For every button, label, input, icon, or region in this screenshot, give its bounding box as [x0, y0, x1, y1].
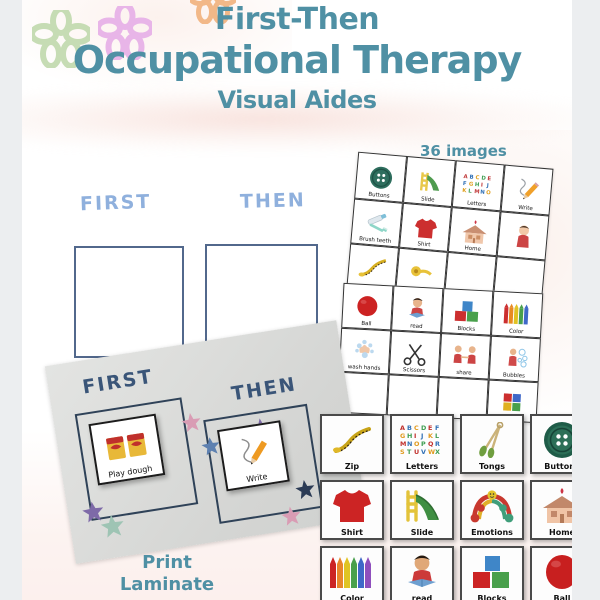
card-label: Ball [532, 594, 572, 600]
tape-icon [408, 260, 436, 282]
board-star-pink-2 [280, 504, 303, 527]
svg-text:H: H [407, 432, 412, 440]
svg-text:W: W [428, 448, 435, 456]
svg-text:B: B [407, 424, 412, 432]
svg-text:B: B [469, 174, 474, 180]
child-icon [511, 222, 535, 250]
ball-icon [354, 293, 381, 320]
svg-text:G: G [400, 432, 405, 440]
sheet-cell-brush-teeth: Brush teeth [350, 199, 403, 248]
svg-text:S: S [400, 448, 405, 456]
cell-label: Ball [342, 320, 390, 329]
zip-icon [332, 425, 372, 455]
sheet-cell-wash-hands: wash hands [339, 327, 391, 374]
tshirt-icon [331, 487, 373, 525]
svg-text:D: D [481, 175, 487, 181]
slide-icon [414, 168, 444, 194]
poster-sheet: First-Then Occupational Therapy Visual A… [22, 0, 572, 600]
card-label: Shirt [322, 528, 382, 537]
card-label: Color [322, 594, 382, 600]
svg-text:J: J [485, 182, 489, 188]
sheet-cell-buttons: Buttons [354, 152, 407, 203]
sheet-cell-slide: Slide [403, 156, 456, 207]
laminated-card-home[interactable]: Home [530, 480, 572, 540]
reading-child-icon [405, 295, 430, 322]
alphabet-icon: AB CD EF GH IJ KL MN OP QR ST UV WX [398, 423, 446, 457]
card-label: Blocks [462, 594, 522, 600]
template-first-label: FIRST [80, 191, 152, 215]
board-star-green [99, 512, 126, 539]
svg-text:P: P [421, 440, 426, 448]
svg-text:A: A [400, 424, 405, 432]
svg-text:M: M [400, 440, 406, 448]
house-icon [459, 217, 489, 245]
board-star-pink [180, 411, 203, 434]
board-card-play-dough[interactable]: Play dough [88, 414, 165, 486]
cell-label: Color [492, 327, 540, 336]
board-first-label: FIRST [81, 366, 155, 399]
svg-text:L: L [435, 432, 439, 440]
pencil-icon [230, 430, 276, 476]
bubbles-icon [501, 346, 528, 371]
laminated-card-zip[interactable]: Zip [320, 414, 384, 474]
cell-label: Bubbles [490, 372, 538, 381]
title-line-3: Visual Aides [22, 86, 572, 114]
svg-text:X: X [435, 448, 440, 456]
tongs-icon [473, 422, 511, 458]
svg-text:H: H [474, 181, 480, 187]
sheet-cell-read: read [391, 285, 443, 332]
laminated-card-color[interactable]: Color [320, 546, 384, 600]
svg-text:C: C [414, 424, 419, 432]
page-margin-left [0, 0, 22, 600]
cell-label: Scissors [390, 367, 438, 376]
laminated-card-letters[interactable]: AB CD EF GH IJ KL MN OP QR ST UV WX Lett [390, 414, 454, 474]
poster-page: First-Then Occupational Therapy Visual A… [0, 0, 600, 600]
page-margin-right [572, 0, 600, 600]
cell-label: share [440, 369, 488, 378]
sheet-b-grid: Ball read [337, 283, 544, 423]
svg-text:T: T [407, 448, 412, 456]
svg-text:R: R [435, 440, 440, 448]
emotions-icon [468, 489, 516, 523]
sheet-cell-blank-4 [387, 375, 439, 418]
ball-icon [542, 553, 572, 591]
sheet-cell-child [497, 211, 550, 260]
laminated-card-shirt[interactable]: Shirt [320, 480, 384, 540]
crayons-icon [328, 554, 376, 590]
svg-text:G: G [468, 181, 474, 187]
sheet-cell-bubbles: Bubbles [489, 335, 541, 382]
zip-icon [357, 254, 389, 281]
print-line-1: Print [82, 552, 252, 574]
laminated-card-grid: Zip AB CD EF GH IJ KL MN OP QR ST [320, 414, 572, 600]
svg-text:A: A [463, 173, 469, 179]
card-label: read [392, 594, 452, 600]
title-line-2: Occupational Therapy [22, 38, 572, 82]
template-first-slot[interactable] [74, 246, 184, 358]
svg-text:I: I [414, 432, 416, 440]
puzzle-icon [500, 390, 525, 413]
laminated-card-blocks[interactable]: Blocks [460, 546, 524, 600]
sheet-cell-write: Write [501, 165, 554, 216]
svg-text:Q: Q [428, 440, 434, 448]
blocks-icon [470, 553, 514, 591]
card-label: Buttons [532, 462, 572, 471]
svg-text:E: E [487, 176, 492, 182]
slide-icon [400, 488, 444, 524]
svg-text:U: U [414, 448, 419, 456]
share-children-icon [449, 344, 480, 370]
svg-text:F: F [435, 424, 439, 432]
alphabet-icon: AB CD E FG HI J KL MN O [460, 171, 496, 200]
svg-text:O: O [414, 440, 420, 448]
svg-text:C: C [475, 174, 480, 180]
laminated-card-ball[interactable]: Ball [530, 546, 572, 600]
toothbrush-icon [362, 210, 392, 236]
card-label: Emotions [462, 528, 522, 537]
poster-heading: First-Then Occupational Therapy Visual A… [22, 0, 572, 114]
laminated-card-read[interactable]: read [390, 546, 454, 600]
title-line-1: First-Then [22, 2, 572, 37]
laminated-card-buttons[interactable]: Buttons [530, 414, 572, 474]
svg-text:K: K [462, 187, 468, 193]
laminated-card-slide[interactable]: Slide [390, 480, 454, 540]
template-then-label: THEN [240, 189, 306, 213]
svg-text:N: N [479, 189, 485, 195]
svg-text:K: K [428, 432, 434, 440]
laminated-card-tongs[interactable]: Tongs [460, 414, 524, 474]
sheet-cell-blocks: Blocks [441, 288, 493, 335]
sheet-cell-shirt: Shirt [399, 203, 452, 252]
card-label: Letters [392, 462, 452, 471]
card-label: Home [532, 528, 572, 537]
card-label: Tongs [462, 462, 522, 471]
sheet-cell-ball: Ball [341, 283, 393, 330]
board-star-navy [294, 478, 317, 501]
laminated-card-emotions[interactable]: Emotions [460, 480, 524, 540]
print-instructions: Print Laminate [82, 552, 252, 596]
sheet-a-grid: Buttons Slide AB CD E FG [346, 152, 553, 304]
sheet-cell-letters: AB CD E FG HI J KL MN O Letters [452, 160, 505, 211]
reading-child-icon [403, 552, 441, 592]
button-icon [542, 420, 572, 460]
blocks-icon [453, 298, 482, 325]
sheet-cell-scissors: Scissors [389, 330, 441, 377]
sheet-cell-home: Home [448, 207, 501, 256]
svg-text:E: E [428, 424, 432, 432]
wash-hands-icon [351, 338, 378, 363]
cell-label: Blocks [442, 325, 490, 334]
play-dough-icon [102, 424, 151, 464]
button-icon [367, 163, 395, 191]
house-icon [540, 487, 572, 525]
sheet-cell-share: share [439, 333, 491, 380]
crayons-icon [501, 301, 532, 329]
pencil-icon [514, 175, 540, 205]
tshirt-icon [411, 213, 439, 241]
svg-text:I: I [480, 182, 483, 188]
cell-label: read [392, 322, 440, 331]
svg-text:F: F [462, 180, 467, 186]
board-card-write[interactable]: Write [217, 420, 290, 491]
card-label: Zip [322, 462, 382, 471]
print-line-2: Laminate [82, 574, 252, 596]
svg-text:L: L [467, 188, 472, 194]
sheet-cell-color: Color [491, 291, 543, 338]
cell-label: wash hands [340, 364, 388, 373]
printable-sheet-lower: Ball read [337, 283, 544, 423]
svg-text:O: O [485, 189, 491, 195]
svg-text:D: D [421, 424, 426, 432]
printable-sheet-upper: Buttons Slide AB CD E FG [346, 152, 553, 304]
svg-text:J: J [420, 432, 423, 440]
svg-text:V: V [421, 448, 426, 456]
svg-text:N: N [407, 440, 412, 448]
card-label: Slide [392, 528, 452, 537]
image-count-badge: 36 images [420, 142, 507, 160]
scissors-icon [402, 340, 427, 367]
board-then-label: THEN [230, 373, 298, 405]
